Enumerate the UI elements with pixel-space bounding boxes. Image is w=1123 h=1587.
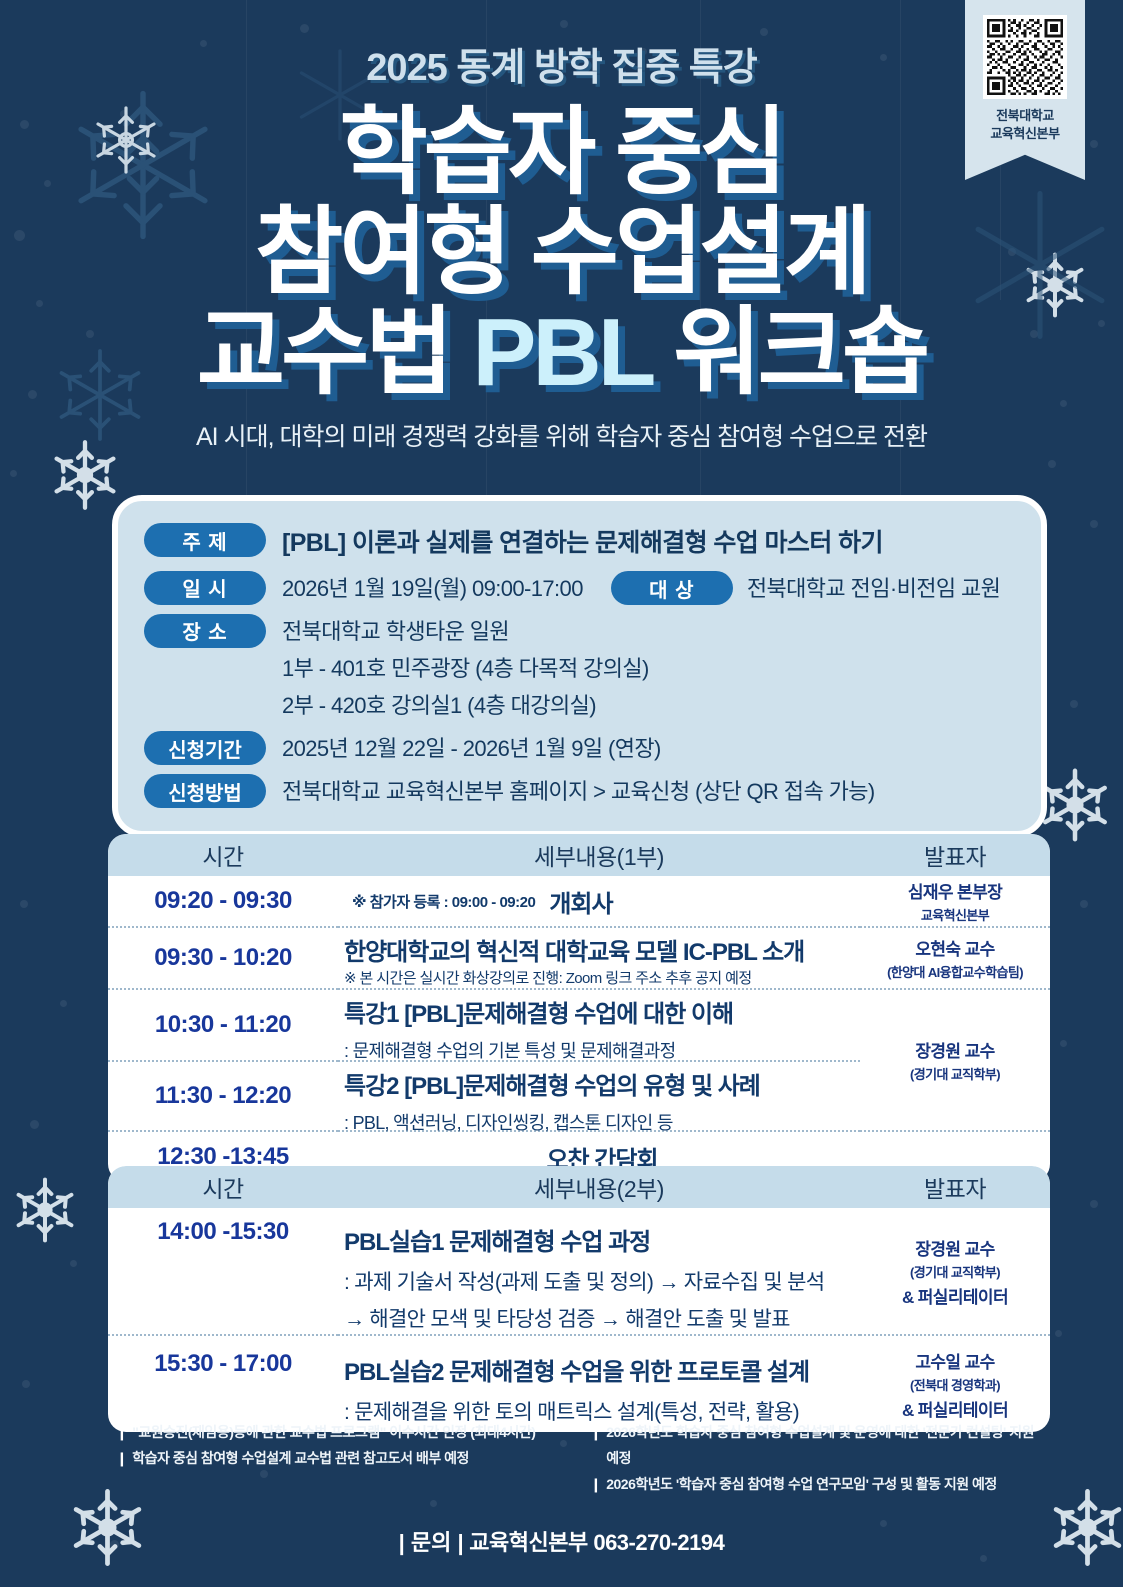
table-row-speaker: 심재우 본부장 교육혁신본부 bbox=[860, 876, 1050, 928]
value-place-line1: 전북대학교 학생타운 일원 bbox=[282, 612, 649, 649]
p2row1-speaker-extra: & 퍼실리테이터 bbox=[902, 1396, 1008, 1421]
schedule1-header-speaker: 발표자 bbox=[860, 838, 1050, 872]
label-period: 신청기간 bbox=[144, 731, 266, 765]
value-audience: 전북대학교 전임·비전임 교원 bbox=[747, 569, 1000, 606]
footnote-text: 2026학년도 '학습자 중심 참여형 수업 연구모임' 구성 및 활동 지원 … bbox=[606, 1472, 997, 1498]
row2-sub: : 문제해결형 수업의 기본 특성 및 문제해결과정 bbox=[344, 1037, 860, 1063]
schedule2-header-detail: 세부내용(2부) bbox=[338, 1170, 860, 1204]
p2row1-title: PBL실습2 문제해결형 수업을 위한 프로토콜 설계 bbox=[344, 1352, 860, 1387]
schedule-table-part2: 시간 세부내용(2부) 발표자 14:00 -15:30 15:30 - 17:… bbox=[108, 1166, 1050, 1432]
footnote-bar-icon: ❙ bbox=[590, 1472, 601, 1498]
schedule1-header-detail: 세부내용(1부) bbox=[338, 838, 860, 872]
value-place-group: 전북대학교 학생타운 일원 1부 - 401호 민주광장 (4층 다목적 강의실… bbox=[282, 612, 649, 723]
schedule1-time-column: 09:20 - 09:30 09:30 - 10:20 10:30 - 11:2… bbox=[108, 876, 338, 1182]
contact-value: 교육혁신본부 063-270-2194 bbox=[469, 1530, 724, 1555]
footnotes-right: ❙2026학년도 학습자 중심 참여형 수업설계 및 운영에 대한 '전문가 컨… bbox=[590, 1420, 1046, 1498]
label-audience: 대 상 bbox=[611, 571, 733, 605]
merged-speaker-org: (경기대 교직학부) bbox=[910, 1064, 1000, 1083]
table-row-time: 10:30 - 11:20 bbox=[108, 990, 338, 1062]
qr-ribbon[interactable]: 전북대학교 교육혁신본부 bbox=[965, 0, 1085, 180]
footnote-text: 2026학년도 학습자 중심 참여형 수업설계 및 운영에 대한 '전문가 컨설… bbox=[606, 1420, 1046, 1472]
qr-code-icon[interactable] bbox=[983, 15, 1067, 99]
schedule2-body: 14:00 -15:30 15:30 - 17:00 PBL실습1 문제해결형 … bbox=[108, 1208, 1050, 1432]
label-datetime: 일 시 bbox=[144, 571, 266, 605]
table-row-detail: PBL실습2 문제해결형 수업을 위한 프로토콜 설계 : 문제해결을 위한 토… bbox=[338, 1336, 860, 1432]
footnote-bar-icon: ❙ bbox=[590, 1420, 601, 1472]
contact-line: | 문의 | 교육혁신본부 063-270-2194 bbox=[0, 1525, 1123, 1557]
info-row-topic: 주 제 [PBL] 이론과 실제를 연결하는 문제해결형 수업 마스터 하기 bbox=[144, 521, 1015, 563]
value-topic: [PBL] 이론과 실제를 연결하는 문제해결형 수업 마스터 하기 bbox=[282, 521, 883, 563]
footnotes: ❙"교원승진(재임용)등에 관한 교수법 프로그램" 이수시간 인정 (최대4시… bbox=[116, 1420, 1046, 1498]
row0-registration-note: ※ 참가자 등록 : 09:00 - 09:20 bbox=[352, 891, 535, 912]
p2row1-speaker-name: 고수일 교수 bbox=[915, 1348, 994, 1373]
value-period: 2025년 12월 22일 - 2026년 1월 9일 (연장) bbox=[282, 729, 661, 766]
schedule1-body: 09:20 - 09:30 09:30 - 10:20 10:30 - 11:2… bbox=[108, 876, 1050, 1182]
table-row-time: 09:30 - 10:20 bbox=[108, 928, 338, 990]
p2row0-title: PBL실습1 문제해결형 수업 과정 bbox=[344, 1222, 860, 1257]
schedule2-header-row: 시간 세부내용(2부) 발표자 bbox=[108, 1166, 1050, 1208]
title-line-3-suffix: 워크숍 bbox=[651, 299, 927, 406]
poster-header: 2025 동계 방학 집중 특강 학습자 중심 참여형 수업설계 교수법 PBL… bbox=[0, 0, 1123, 453]
schedule1-speaker-column: 심재우 본부장 교육혁신본부 오현숙 교수 (한양대 AI융합교수학습팀) 장경… bbox=[860, 876, 1050, 1182]
label-place: 장 소 bbox=[144, 614, 266, 648]
info-row-audience: 대 상 전북대학교 전임·비전임 교원 bbox=[611, 569, 1000, 606]
table-row-speaker: 장경원 교수 (경기대 교직학부) & 퍼실리테이터 bbox=[860, 1208, 1050, 1336]
footnotes-left: ❙"교원승진(재임용)등에 관한 교수법 프로그램" 이수시간 인정 (최대4시… bbox=[116, 1420, 572, 1498]
footnote-item: ❙2026학년도 '학습자 중심 참여형 수업 연구모임' 구성 및 활동 지원… bbox=[590, 1472, 1046, 1498]
schedule1-header-row: 시간 세부내용(1부) 발표자 bbox=[108, 834, 1050, 876]
schedule-table-part1: 시간 세부내용(1부) 발표자 09:20 - 09:30 09:30 - 10… bbox=[108, 834, 1050, 1182]
p2row1-speaker-org: (전북대 경영학과) bbox=[910, 1375, 1000, 1394]
footnote-text: 학습자 중심 참여형 수업설계 교수법 관련 참고도서 배부 예정 bbox=[132, 1446, 469, 1472]
row0-speaker-org: 교육혁신본부 bbox=[921, 905, 989, 924]
p2row0-speaker-name: 장경원 교수 bbox=[915, 1235, 994, 1260]
info-row-method: 신청방법 전북대학교 교육혁신본부 홈페이지 > 교육신청 (상단 QR 접속 … bbox=[144, 772, 1015, 809]
info-card: 주 제 [PBL] 이론과 실제를 연결하는 문제해결형 수업 마스터 하기 일… bbox=[112, 495, 1047, 837]
table-row-detail: ※ 참가자 등록 : 09:00 - 09:20 개회사 bbox=[338, 876, 860, 928]
schedule2-header-speaker: 발표자 bbox=[860, 1170, 1050, 1204]
footnote-bar-icon: ❙ bbox=[116, 1446, 127, 1472]
snowflake-icon bbox=[5, 1170, 85, 1250]
value-method: 전북대학교 교육혁신본부 홈페이지 > 교육신청 (상단 QR 접속 가능) bbox=[282, 772, 875, 809]
qr-caption-line2: 교육혁신본부 bbox=[990, 125, 1059, 143]
footnote-item: ❙"교원승진(재임용)등에 관한 교수법 프로그램" 이수시간 인정 (최대4시… bbox=[116, 1420, 572, 1446]
row0-title: 개회사 bbox=[549, 884, 612, 919]
value-place-line2: 1부 - 401호 민주광장 (4층 다목적 강의실) bbox=[282, 649, 649, 686]
footnote-item: ❙학습자 중심 참여형 수업설계 교수법 관련 참고도서 배부 예정 bbox=[116, 1446, 572, 1472]
title-line-1: 학습자 중심 bbox=[0, 105, 1123, 201]
table-row-detail: 특강1 [PBL]문제해결형 수업에 대한 이해 : 문제해결형 수업의 기본 … bbox=[338, 990, 860, 1062]
title-line-3: 교수법 PBL 워크숍 bbox=[0, 305, 1123, 401]
row3-title: 특강2 [PBL]문제해결형 수업의 유형 및 사례 bbox=[344, 1066, 860, 1101]
p2row0-speaker-org: (경기대 교직학부) bbox=[910, 1262, 1000, 1281]
merged-speaker-name: 장경원 교수 bbox=[915, 1037, 994, 1062]
poster-subtitle: AI 시대, 대학의 미래 경쟁력 강화를 위해 학습자 중심 참여형 수업으로… bbox=[0, 417, 1123, 453]
info-row-period: 신청기간 2025년 12월 22일 - 2026년 1월 9일 (연장) bbox=[144, 729, 1015, 766]
footnote-bar-icon: ❙ bbox=[116, 1420, 127, 1446]
schedule2-header-time: 시간 bbox=[108, 1170, 338, 1204]
label-topic: 주 제 bbox=[144, 523, 266, 557]
row0-speaker-name: 심재우 본부장 bbox=[908, 878, 1002, 903]
row1-title: 한양대학교의 혁신적 대학교육 모델 IC-PBL 소개 bbox=[344, 932, 860, 967]
schedule2-time-column: 14:00 -15:30 15:30 - 17:00 bbox=[108, 1208, 338, 1432]
p2row0-sub1: : 과제 기술서 작성(과제 도출 및 정의) → 자료수집 및 분석 bbox=[344, 1266, 860, 1296]
schedule1-header-time: 시간 bbox=[108, 838, 338, 872]
table-row-speaker: 오현숙 교수 (한양대 AI융합교수학습팀) bbox=[860, 928, 1050, 990]
table-row-time: 11:30 - 12:20 bbox=[108, 1062, 338, 1132]
table-row-speaker: 고수일 교수 (전북대 경영학과) & 퍼실리테이터 bbox=[860, 1336, 1050, 1432]
row1-speaker-name: 오현숙 교수 bbox=[915, 935, 994, 960]
value-datetime: 2026년 1월 19일(월) 09:00-17:00 bbox=[282, 569, 583, 606]
footnote-text: "교원승진(재임용)등에 관한 교수법 프로그램" 이수시간 인정 (최대4시간… bbox=[132, 1420, 535, 1446]
footnote-item: ❙2026학년도 학습자 중심 참여형 수업설계 및 운영에 대한 '전문가 컨… bbox=[590, 1420, 1046, 1472]
contact-label: | 문의 | bbox=[399, 1530, 464, 1555]
table-row-detail: 한양대학교의 혁신적 대학교육 모델 IC-PBL 소개 ※ 본 시간은 실시간… bbox=[338, 928, 860, 990]
title-line-3-pbl: PBL bbox=[472, 299, 650, 406]
table-row-time: 14:00 -15:30 bbox=[108, 1208, 338, 1336]
schedule1-detail-column: ※ 참가자 등록 : 09:00 - 09:20 개회사 한양대학교의 혁신적 … bbox=[338, 876, 860, 1182]
schedule2-detail-column: PBL실습1 문제해결형 수업 과정 : 과제 기술서 작성(과제 도출 및 정… bbox=[338, 1208, 860, 1432]
info-row-datetime: 일 시 2026년 1월 19일(월) 09:00-17:00 대 상 전북대학… bbox=[144, 569, 1015, 606]
label-method: 신청방법 bbox=[144, 774, 266, 808]
row1-note: ※ 본 시간은 실시간 화상강의로 진행: Zoom 링크 주소 추후 공지 예… bbox=[344, 967, 860, 988]
table-row-detail: PBL실습1 문제해결형 수업 과정 : 과제 기술서 작성(과제 도출 및 정… bbox=[338, 1208, 860, 1336]
schedule2-speaker-column: 장경원 교수 (경기대 교직학부) & 퍼실리테이터 고수일 교수 (전북대 경… bbox=[860, 1208, 1050, 1432]
row2-title: 특강1 [PBL]문제해결형 수업에 대한 이해 bbox=[344, 994, 860, 1029]
table-row-speaker-merged: 장경원 교수 (경기대 교직학부) bbox=[860, 990, 1050, 1132]
p2row0-speaker-extra: & 퍼실리테이터 bbox=[902, 1283, 1008, 1308]
table-row-time: 15:30 - 17:00 bbox=[108, 1336, 338, 1432]
table-row-time: 09:20 - 09:30 bbox=[108, 876, 338, 928]
kicker-text: 2025 동계 방학 집중 특강 bbox=[0, 36, 1123, 91]
value-place-line3: 2부 - 420호 강의실1 (4층 대강의실) bbox=[282, 686, 649, 723]
title-line-2: 참여형 수업설계 bbox=[0, 205, 1123, 301]
title-line-3-prefix: 교수법 bbox=[197, 299, 473, 406]
row1-speaker-org: (한양대 AI융합교수학습팀) bbox=[887, 962, 1023, 981]
info-row-place: 장 소 전북대학교 학생타운 일원 1부 - 401호 민주광장 (4층 다목적… bbox=[144, 612, 1015, 723]
qr-caption-line1: 전북대학교 bbox=[996, 107, 1054, 125]
p2row0-sub2: → 해결안 모색 및 타당성 검증 → 해결안 도출 및 발표 bbox=[344, 1303, 860, 1333]
table-row-detail: 특강2 [PBL]문제해결형 수업의 유형 및 사례 : PBL, 액션러닝, … bbox=[338, 1062, 860, 1132]
